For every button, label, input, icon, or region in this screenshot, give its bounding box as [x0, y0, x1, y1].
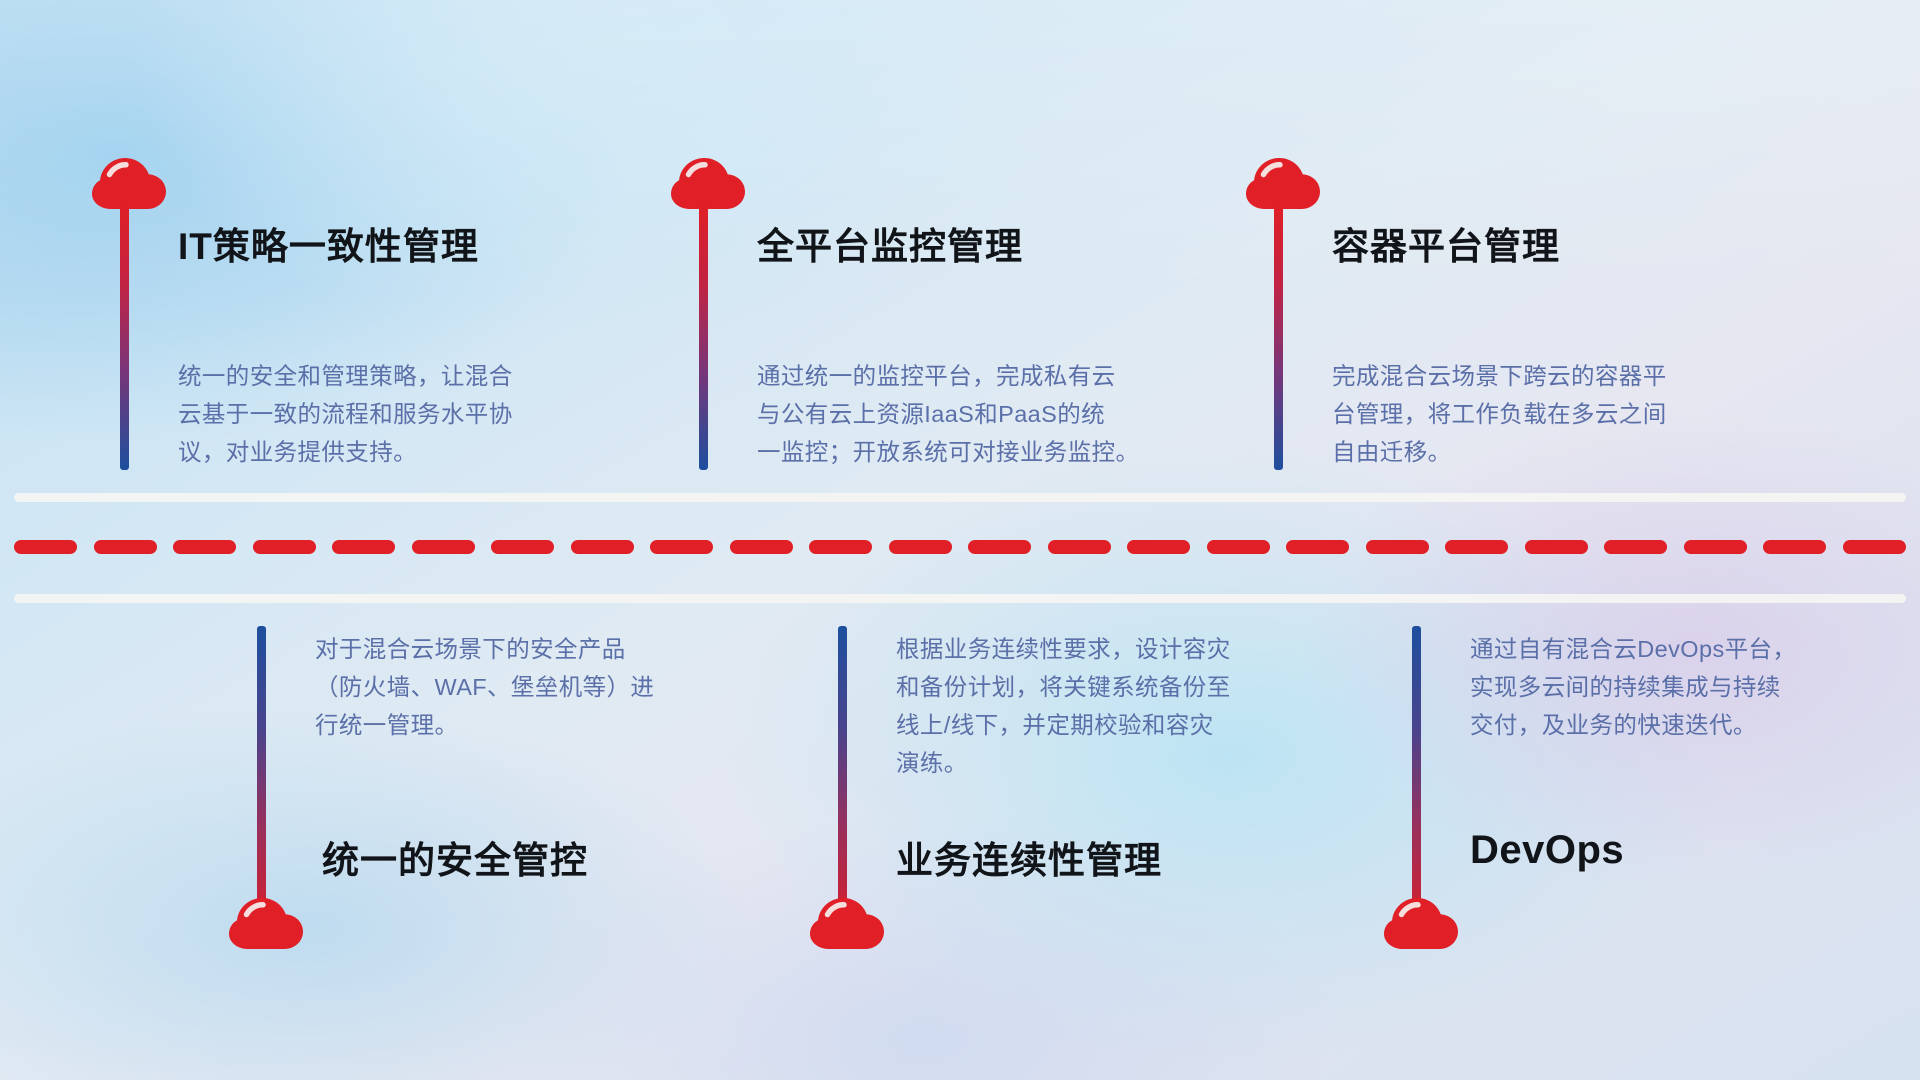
road-dash: [650, 540, 713, 554]
cloud-icon: [92, 158, 166, 210]
road-divider: [0, 480, 1920, 610]
pillar-title: DevOps: [1470, 828, 1624, 873]
road-dash: [253, 540, 316, 554]
pillar-stem: [699, 205, 708, 470]
road-dash: [1684, 540, 1747, 554]
pillar-stem: [1412, 626, 1421, 916]
road-edge-line-top: [14, 493, 1906, 502]
cloud-icon: [1384, 898, 1458, 950]
road-dash: [173, 540, 236, 554]
pillar-stem: [257, 626, 266, 916]
road-dash: [1366, 540, 1429, 554]
pillar-body: 根据业务连续性要求，设计容灾 和备份计划，将关键系统备份至 线上/线下，并定期校…: [896, 630, 1336, 782]
cloud-icon: [671, 158, 745, 210]
pillar-body: 统一的安全和管理策略，让混合 云基于一致的流程和服务水平协 议，对业务提供支持。: [178, 357, 608, 471]
road-dash: [1525, 540, 1588, 554]
road-dash: [1048, 540, 1111, 554]
road-dash: [332, 540, 395, 554]
road-dash: [1127, 540, 1190, 554]
road-dash: [1286, 540, 1349, 554]
pillar-body: 通过自有混合云DevOps平台， 实现多云间的持续集成与持续 交付，及业务的快速…: [1470, 630, 1910, 744]
road-dash: [14, 540, 77, 554]
pillar-body: 完成混合云场景下跨云的容器平 台管理，将工作负载在多云之间 自由迁移。: [1332, 357, 1782, 471]
pillar-body: 通过统一的监控平台，完成私有云 与公有云上资源IaaS和PaaS的统 一监控；开…: [757, 357, 1207, 471]
road-center-dashes: [14, 540, 1906, 554]
pillar-stem: [120, 205, 129, 470]
cloud-icon: [1246, 158, 1320, 210]
road-dash: [1843, 540, 1906, 554]
road-dash: [1207, 540, 1270, 554]
road-dash: [809, 540, 872, 554]
pillar-title: 容器平台管理: [1332, 216, 1560, 270]
road-dash: [968, 540, 1031, 554]
road-dash: [491, 540, 554, 554]
road-dash: [571, 540, 634, 554]
cloud-icon: [810, 898, 884, 950]
road-dash: [412, 540, 475, 554]
road-dash: [1604, 540, 1667, 554]
road-edge-line-bottom: [14, 594, 1906, 603]
road-dash: [889, 540, 952, 554]
pillar-stem: [838, 626, 847, 916]
pillar-stem: [1274, 205, 1283, 470]
road-dash: [730, 540, 793, 554]
road-dash: [1445, 540, 1508, 554]
pillar-title: IT策略一致性管理: [178, 216, 479, 270]
cloud-icon: [229, 898, 303, 950]
pillar-title: 业务连续性管理: [896, 830, 1162, 884]
pillar-body: 对于混合云场景下的安全产品 （防火墙、WAF、堡垒机等）进 行统一管理。: [315, 630, 745, 744]
road-dash: [94, 540, 157, 554]
road-dash: [1763, 540, 1826, 554]
pillar-title: 全平台监控管理: [757, 216, 1023, 270]
pillar-title: 统一的安全管控: [322, 830, 588, 884]
